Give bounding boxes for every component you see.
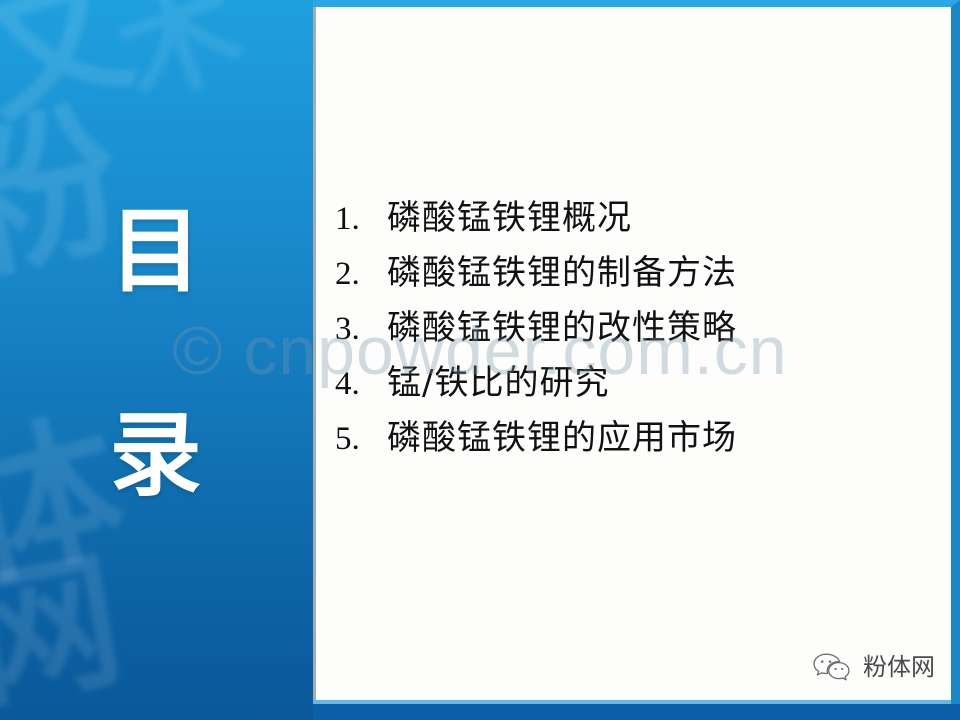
list-item-number: 3. bbox=[335, 309, 387, 349]
wechat-icon bbox=[812, 652, 854, 682]
left-title-panel: 文 术 粉 体 网 目 录 bbox=[0, 0, 313, 720]
list-item[interactable]: 5. 磷酸锰铁锂的应用市场 bbox=[335, 418, 935, 473]
brand-name: 粉体网 bbox=[863, 653, 935, 681]
list-item-label: 磷酸锰铁锂的制备方法 bbox=[387, 253, 935, 293]
list-item-number: 5. bbox=[335, 419, 387, 459]
list-item-number: 4. bbox=[335, 364, 387, 404]
list-item[interactable]: 4. 锰/铁比的研究 bbox=[335, 363, 935, 418]
presentation-slide: 文 术 粉 体 网 目 录 1. 磷酸锰铁锂概况 2. 磷酸锰铁锂的制备方法 3… bbox=[0, 0, 960, 720]
list-item-number: 2. bbox=[335, 254, 387, 294]
list-item[interactable]: 2. 磷酸锰铁锂的制备方法 bbox=[335, 253, 935, 308]
decorative-mark: 网 bbox=[0, 544, 132, 718]
decorative-mark: 术 bbox=[103, 0, 257, 117]
agenda-list: 1. 磷酸锰铁锂概况 2. 磷酸锰铁锂的制备方法 3. 磷酸锰铁锂的改性策略 4… bbox=[335, 198, 935, 473]
slide-title: 目 录 bbox=[0, 196, 313, 512]
list-item-label: 磷酸锰铁锂的改性策略 bbox=[387, 308, 935, 348]
frame-left-rule bbox=[313, 7, 316, 720]
decorative-mark: 文 bbox=[0, 0, 146, 134]
slide-title-char-1: 目 bbox=[0, 196, 313, 308]
brand-logo: 粉体网 bbox=[812, 652, 935, 682]
list-item-number: 1. bbox=[335, 199, 387, 239]
list-item[interactable]: 1. 磷酸锰铁锂概况 bbox=[335, 198, 935, 253]
list-item[interactable]: 3. 磷酸锰铁锂的改性策略 bbox=[335, 308, 935, 363]
slide-title-char-2: 录 bbox=[0, 400, 313, 512]
list-item-label: 磷酸锰铁锂的应用市场 bbox=[387, 418, 935, 458]
bottom-band bbox=[313, 704, 960, 720]
list-item-label: 磷酸锰铁锂概况 bbox=[387, 198, 935, 238]
list-item-label: 锰/铁比的研究 bbox=[387, 363, 935, 403]
